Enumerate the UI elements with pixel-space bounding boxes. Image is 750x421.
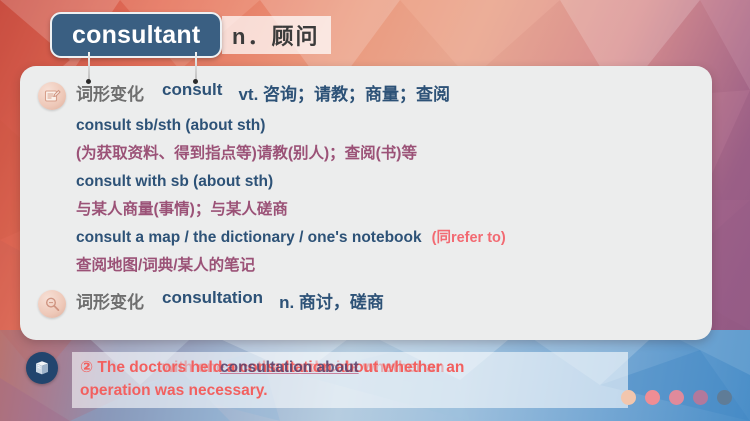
book-icon [26,352,58,384]
usage-line-cn: 与某人商量(事情)；与某人磋商 [76,196,694,224]
section-consult-header: 词形变化 consult vt. 咨询；请教；商量；查阅 [38,80,694,110]
section-gloss-2: n. 商讨，磋商 [279,288,384,313]
usage-line-note: (同refer to) [432,230,506,246]
section-headword-2: consultation [162,288,263,308]
example-sentence: with one another to decide whether an ② … [72,352,628,408]
part-of-speech-tag: n．顾问 [222,16,331,54]
usage-line-en-text: consult with sb (about sth) [76,173,273,190]
pin-left-icon [86,52,91,84]
usage-line-en: consult with sb (about sth) [76,168,694,196]
progress-dot[interactable] [621,390,636,405]
slide-root: consultant n．顾问 词形变化 consult vt. 咨 [0,0,750,421]
section-consultation-header: 词形变化 consultation n. 商讨，磋商 [38,288,694,318]
part-of-speech-text: n．顾问 [232,19,319,51]
progress-dot[interactable] [717,390,732,405]
progress-dot[interactable] [645,390,660,405]
progress-dot[interactable] [693,390,708,405]
usage-lines: consult sb/sth (about sth) (为获取资料、得到指点等)… [76,112,694,280]
progress-dots[interactable] [621,390,732,405]
definition-card: 词形变化 consult vt. 咨询；请教；商量；查阅 consult sb/… [20,66,712,340]
usage-line-en-text: consult sb/sth (about sth) [76,117,265,134]
section-gloss-1: vt. 咨询；请教；商量；查阅 [238,80,450,105]
magnifier-icon [38,290,66,318]
headword-text: consultant [72,21,200,50]
example-incoming-word: consultation about [220,356,359,379]
example-line-2: operation was necessary. [80,379,620,402]
usage-line-cn: 查阅地图/词典/某人的笔记 [76,252,694,280]
section-label-2: 词形变化 [76,288,144,313]
usage-line-cn: (为获取资料、得到指点等)请教(别人)；查阅(书)等 [76,140,694,168]
example-line-1: with one another to decide whether an ② … [80,356,620,379]
usage-line-en: consult sb/sth (about sth) [76,112,694,140]
note-edit-icon [38,82,66,110]
pin-right-icon [193,52,198,84]
progress-dot[interactable] [669,390,684,405]
usage-line-en: consult a map / the dictionary / one's n… [76,224,694,252]
usage-line-en-text: consult a map / the dictionary / one's n… [76,229,422,246]
